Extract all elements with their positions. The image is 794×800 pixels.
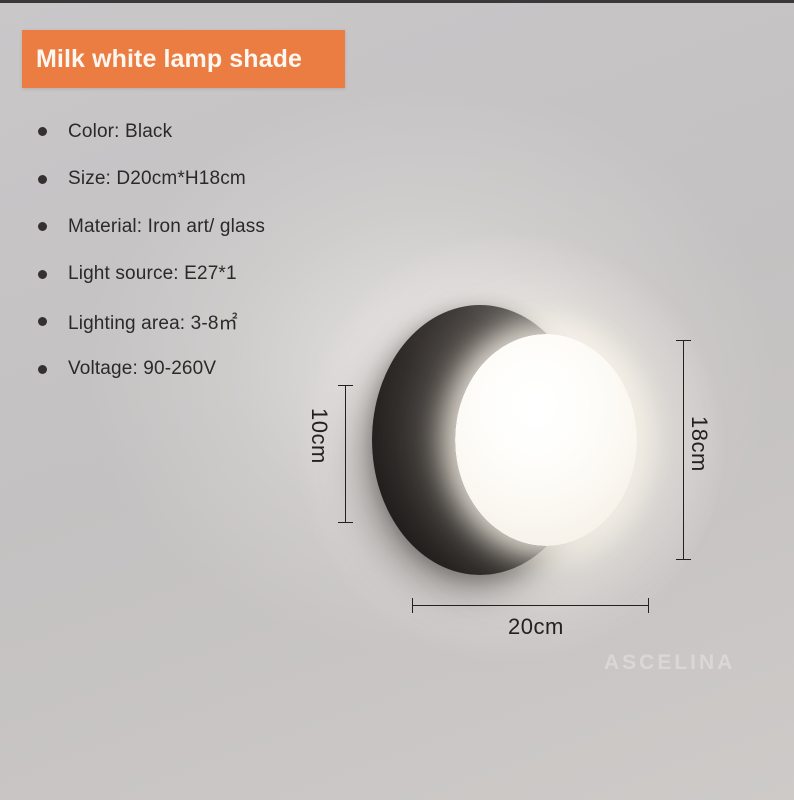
section-banner: Milk white lamp shade <box>22 30 345 88</box>
spec-item-voltage: Voltage: 90-260V <box>38 346 368 394</box>
spec-item-material: Material: Iron art/ glass <box>38 203 368 251</box>
spec-label-voltage: Voltage: 90-260V <box>68 358 216 380</box>
spec-item-light-source: Light source: E27*1 <box>38 251 368 299</box>
dimension-cap <box>676 559 691 560</box>
spec-label-lighting-area: Lighting area: 3-8㎡ <box>68 308 238 335</box>
backplate-shadow <box>352 318 588 598</box>
spec-label-color: Color: Black <box>68 121 172 143</box>
bullet-icon <box>38 127 47 136</box>
bullet-icon <box>38 270 47 279</box>
top-divider <box>0 0 794 3</box>
spec-item-size: Size: D20cm*H18cm <box>38 156 368 204</box>
dimension-line <box>683 340 684 560</box>
spec-label-material: Material: Iron art/ glass <box>68 216 265 238</box>
backplate-highlight <box>372 305 588 575</box>
dimension-line <box>345 385 346 523</box>
spec-item-color: Color: Black <box>38 108 368 156</box>
lamp-backplate <box>372 305 588 575</box>
bullet-icon <box>38 317 47 326</box>
dimension-cap <box>648 598 649 613</box>
dimension-label-depth: 10cm <box>306 408 332 464</box>
bullet-icon <box>38 365 47 374</box>
dimension-label-height: 18cm <box>686 416 712 472</box>
lamp-glass-shade <box>455 334 637 546</box>
banner-title: Milk white lamp shade <box>22 45 302 74</box>
specification-list: Color: Black Size: D20cm*H18cm Material:… <box>38 108 368 393</box>
spec-label-light-source: Light source: E27*1 <box>68 263 237 285</box>
brand-watermark: ASCELINA <box>604 651 735 675</box>
dimension-line <box>412 605 648 606</box>
spec-label-size: Size: D20cm*H18cm <box>68 168 246 190</box>
dimension-cap <box>338 522 353 523</box>
bullet-icon <box>38 222 47 231</box>
dimension-label-width: 20cm <box>508 614 564 640</box>
shade-highlight <box>491 362 578 447</box>
product-image-canvas: Milk white lamp shade Color: Black Size:… <box>0 0 794 800</box>
bullet-icon <box>38 175 47 184</box>
spec-item-lighting-area: Lighting area: 3-8㎡ <box>38 298 368 346</box>
